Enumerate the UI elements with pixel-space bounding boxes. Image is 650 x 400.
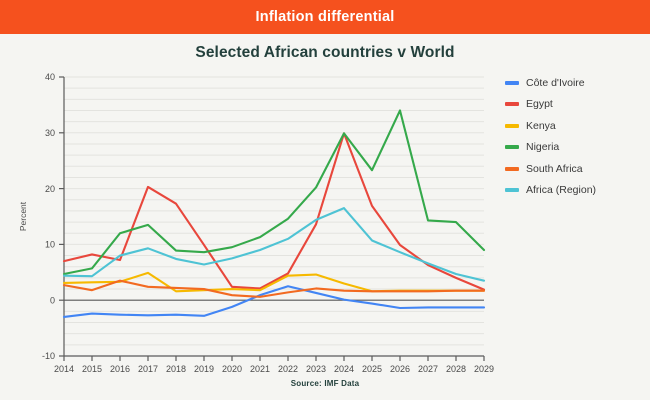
x-axis-tick-label: 2014 bbox=[54, 364, 74, 374]
x-axis-tick-label: 2024 bbox=[334, 364, 354, 374]
legend-item[interactable]: South Africa bbox=[505, 158, 645, 180]
legend-color-swatch bbox=[505, 81, 519, 85]
y-axis-title: Percent bbox=[18, 201, 28, 231]
source-note: Source: IMF Data bbox=[0, 379, 650, 388]
x-axis-tick-label: 2025 bbox=[362, 364, 382, 374]
legend-color-swatch bbox=[505, 102, 519, 106]
x-axis-tick-label: 2019 bbox=[194, 364, 214, 374]
y-axis-tick-label: 40 bbox=[45, 72, 55, 82]
legend-color-swatch bbox=[505, 167, 519, 171]
chart-screenshot: Inflation differential Selected African … bbox=[0, 0, 650, 400]
legend-item-label: Africa (Region) bbox=[526, 184, 596, 196]
y-axis-tick-label: 10 bbox=[45, 240, 55, 250]
series-line bbox=[64, 110, 484, 273]
legend-item[interactable]: Côte d'Ivoire bbox=[505, 72, 645, 94]
x-axis-tick-label: 2029 bbox=[474, 364, 494, 374]
series-line bbox=[64, 133, 484, 289]
legend-item[interactable]: Nigeria bbox=[505, 137, 645, 159]
chart-legend: Côte d'IvoireEgyptKenyaNigeriaSouth Afri… bbox=[505, 72, 645, 201]
x-axis-tick-label: 2016 bbox=[110, 364, 130, 374]
x-axis-tick-label: 2015 bbox=[82, 364, 102, 374]
legend-item-label: Egypt bbox=[526, 98, 553, 110]
y-axis-tick-label: 30 bbox=[45, 128, 55, 138]
x-axis-tick-label: 2017 bbox=[138, 364, 158, 374]
legend-item[interactable]: Egypt bbox=[505, 94, 645, 116]
legend-item[interactable]: Africa (Region) bbox=[505, 180, 645, 202]
legend-item-label: Kenya bbox=[526, 120, 556, 132]
x-axis-tick-label: 2023 bbox=[306, 364, 326, 374]
legend-item[interactable]: Kenya bbox=[505, 115, 645, 137]
legend-color-swatch bbox=[505, 124, 519, 128]
legend-item-label: Côte d'Ivoire bbox=[526, 77, 585, 89]
legend-item-label: South Africa bbox=[526, 163, 583, 175]
x-axis-tick-label: 2028 bbox=[446, 364, 466, 374]
legend-item-label: Nigeria bbox=[526, 141, 559, 153]
x-axis-tick-label: 2020 bbox=[222, 364, 242, 374]
legend-color-swatch bbox=[505, 188, 519, 192]
x-axis-tick-label: 2018 bbox=[166, 364, 186, 374]
y-axis-tick-label: 0 bbox=[50, 295, 55, 305]
y-axis-tick-label: -10 bbox=[42, 351, 55, 361]
x-axis-tick-label: 2022 bbox=[278, 364, 298, 374]
x-axis-tick-label: 2026 bbox=[390, 364, 410, 374]
x-axis-tick-label: 2027 bbox=[418, 364, 438, 374]
x-axis-tick-label: 2021 bbox=[250, 364, 270, 374]
legend-color-swatch bbox=[505, 145, 519, 149]
y-axis-tick-label: 20 bbox=[45, 184, 55, 194]
